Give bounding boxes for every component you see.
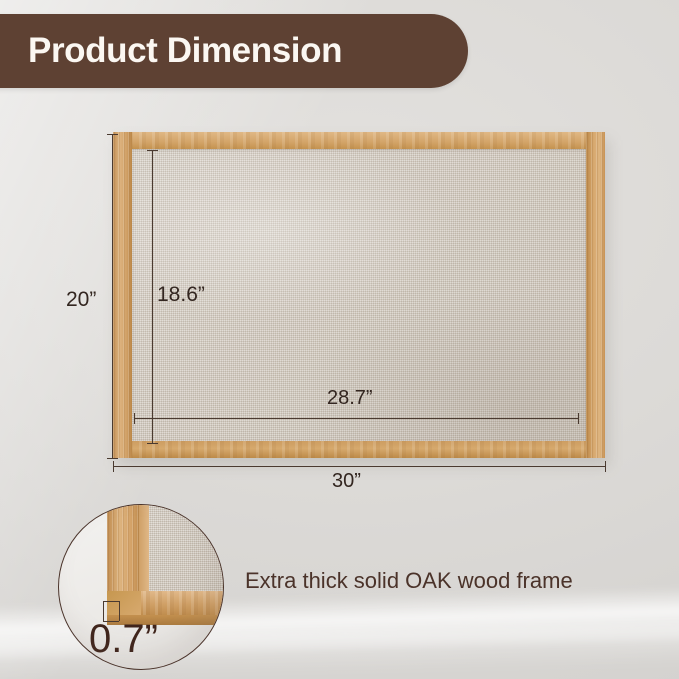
frame-rail-top bbox=[113, 132, 605, 149]
page-title: Product Dimension bbox=[28, 31, 342, 71]
dimension-line-inner-width bbox=[134, 418, 578, 419]
detail-caption: Extra thick solid OAK wood frame bbox=[245, 568, 573, 594]
frame-stile-right bbox=[586, 132, 605, 458]
dimension-tick-height-bottom bbox=[107, 458, 118, 459]
title-banner: Product Dimension bbox=[0, 14, 468, 88]
frame-stile-left bbox=[113, 132, 132, 458]
dimension-tick-inner-width-left bbox=[134, 413, 135, 424]
infographic-canvas: Product Dimension 20” 18.6” 28.7” 30” bbox=[0, 0, 679, 679]
dimension-tick-inner-height-top bbox=[147, 150, 158, 151]
detail-fabric bbox=[149, 504, 224, 591]
frame-rail-bottom bbox=[113, 441, 605, 458]
dimension-tick-inner-width-right bbox=[578, 413, 579, 424]
dimension-tick-overall-width-right bbox=[605, 461, 606, 472]
dimension-tick-height-top bbox=[107, 134, 118, 135]
dimension-line-inner-height bbox=[152, 150, 153, 443]
detail-frame-vertical-face bbox=[139, 504, 149, 603]
dimension-line-overall-height bbox=[112, 134, 113, 458]
dimension-label-overall-width: 30” bbox=[332, 470, 361, 493]
dimension-label-overall-height: 20” bbox=[66, 288, 96, 312]
dimension-label-inner-height: 18.6” bbox=[157, 283, 205, 307]
dimension-tick-inner-height-bottom bbox=[147, 443, 158, 444]
frame-detail-circle: 0.7” bbox=[58, 504, 224, 670]
dimension-label-inner-width: 28.7” bbox=[327, 387, 373, 410]
dimension-tick-overall-width-left bbox=[113, 461, 114, 472]
detail-frame-vertical bbox=[107, 504, 139, 603]
dimension-label-frame-depth: 0.7” bbox=[89, 617, 158, 662]
dimension-line-overall-width bbox=[113, 466, 605, 467]
